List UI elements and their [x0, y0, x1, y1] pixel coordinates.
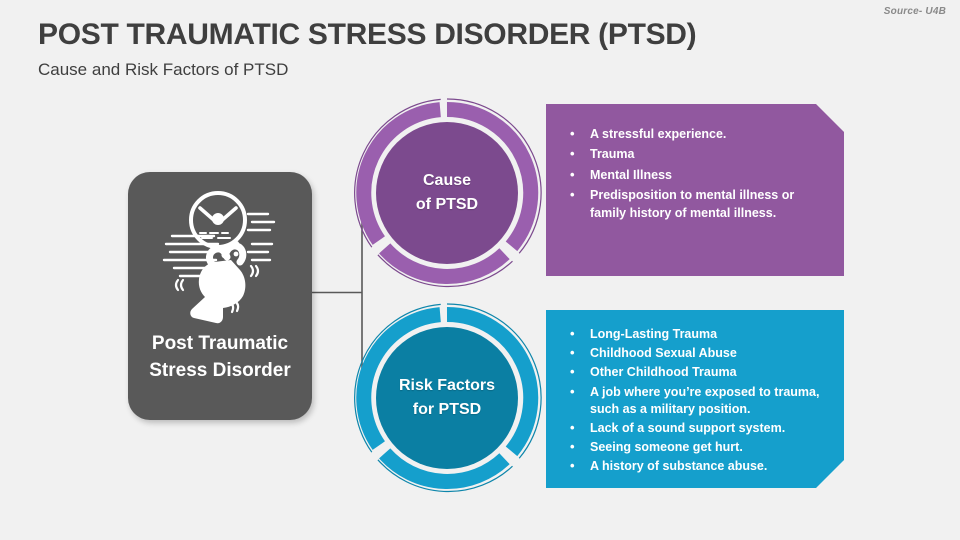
cause-callout-box: A stressful experience. Trauma Mental Il…	[546, 104, 844, 276]
main-concept-label-line1: Post Traumatic	[128, 330, 312, 357]
list-item: Mental Illness	[566, 167, 814, 184]
risk-bullet-list: Long-Lasting Trauma Childhood Sexual Abu…	[546, 310, 844, 476]
main-concept-card[interactable]: Post Traumatic Stress Disorder	[128, 172, 312, 420]
page-title: POST TRAUMATIC STRESS DISORDER (PTSD)	[38, 18, 696, 52]
list-item: Childhood Sexual Abuse	[566, 345, 820, 362]
risk-circle[interactable]: Risk Factors for PTSD	[352, 303, 542, 493]
page-subtitle: Cause and Risk Factors of PTSD	[38, 60, 288, 80]
list-item: Predisposition to mental illness or fami…	[566, 187, 814, 222]
slide-canvas: Source- U4B POST TRAUMATIC STRESS DISORD…	[0, 0, 960, 540]
cause-bullet-list: A stressful experience. Trauma Mental Il…	[546, 104, 844, 222]
risk-callout-box: Long-Lasting Trauma Childhood Sexual Abu…	[546, 310, 844, 488]
main-concept-label: Post Traumatic Stress Disorder	[128, 330, 312, 384]
list-item: A history of substance abuse.	[566, 458, 820, 475]
list-item: Lack of a sound support system.	[566, 420, 820, 437]
list-item: Seeing someone get hurt.	[566, 439, 820, 456]
main-concept-label-line2: Stress Disorder	[128, 357, 312, 384]
list-item: A job where you’re exposed to trauma, su…	[566, 384, 820, 418]
list-item: Trauma	[566, 146, 814, 163]
risk-circle-graphic	[352, 303, 542, 493]
source-note: Source- U4B	[884, 6, 946, 17]
cause-circle-graphic	[352, 98, 542, 288]
ptsd-person-kneeling-icon	[156, 188, 284, 324]
cause-circle[interactable]: Cause of PTSD	[352, 98, 542, 288]
list-item: Other Childhood Trauma	[566, 364, 820, 381]
list-item: Long-Lasting Trauma	[566, 326, 820, 343]
list-item: A stressful experience.	[566, 126, 814, 143]
